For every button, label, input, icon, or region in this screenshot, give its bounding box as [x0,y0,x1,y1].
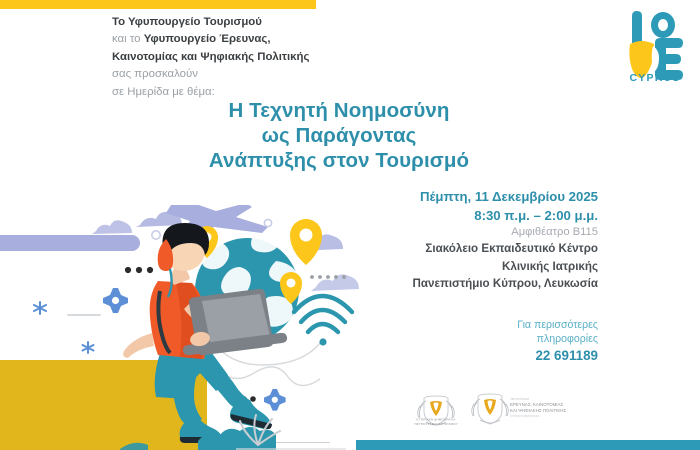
gov1-caption-line2: ΥΦΥΠΟΥΡΓΕΙΟ ΤΟΥΡΙΣΜΟΥ [414,422,458,426]
header-line-2: και το Υφυπουργείο Έρευνας, [112,31,412,48]
gov2-caption-line0: ΥΦΥΠΟΥΡΓΕΙΟ [510,397,529,401]
contact-label-line-2: πληροφορίες [380,332,598,346]
bubble-circle [264,219,271,226]
venue-line-3: Πανεπιστήμιο Κύπρου, Λευκωσία [300,275,598,293]
gov2-caption-line2: ΚΑΙ ΨΗΦΙΑΚΗΣ ΠΟΛΙΤΙΚΗΣ [510,408,566,413]
venue-line-2: Κλινικής Ιατρικής [300,258,598,276]
gov2-caption-line1: ΕΡΕΥΝΑΣ, ΚΑΙΝΟΤΟΜΙΑΣ [510,402,563,407]
event-venue: Σιακόλειο Εκπαιδευτικό Κέντρο Κλινικής Ι… [300,240,598,293]
event-time: 8:30 π.μ. – 2:00 μ.μ. [320,207,598,226]
title-line-3: Ανάπτυξης στον Τουρισμό [150,148,528,173]
event-datetime: Πέμπτη, 11 Δεκεμβρίου 2025 8:30 π.μ. – 2… [320,188,598,225]
cyprus-coat-of-arms-icon [472,394,509,424]
gear-icon [264,389,286,411]
bubble-circle [152,231,160,239]
event-poster: Το Υφυπουργείο Τουρισμού και το Υφυπουργ… [0,0,700,450]
venue-line-1: Σιακόλειο Εκπαιδευτικό Κέντρο [300,240,598,258]
page-title: Η Τεχνητή Νοημοσύνη ως Παράγοντας Ανάπτυ… [150,98,528,173]
sparkle-icon [83,342,94,353]
contact-label-line-1: Για περισσότερες [380,318,598,332]
shoe [230,400,272,429]
title-line-1: Η Τεχνητή Νοημοσύνη [150,98,528,123]
top-yellow-accent-bar [0,0,316,9]
header-line-3: Καινοτομίας και Ψηφιακής Πολιτικής [112,49,412,66]
header-line-2-light: και το [112,33,144,45]
love-cyprus-logo: CYPRUS [620,8,690,84]
header-line-4: σας προσκαλούν [112,66,412,83]
gov2-caption-line3: ΚΥΠΡΙΑΚΗ ΔΗΜΟΚΡΑΤΙΑ [510,415,540,418]
invitation-header-text: Το Υφυπουργείο Τουρισμού και το Υφυπουργ… [112,14,412,101]
contact-label: Για περισσότερες πληροφορίες [380,318,598,347]
header-line-1: Το Υφυπουργείο Τουρισμού [112,14,412,31]
title-line-2: ως Παράγοντας [150,123,528,148]
event-date: Πέμπτη, 11 Δεκεμβρίου 2025 [320,188,598,207]
wifi-icon [294,296,352,346]
sparkle-icon [34,302,46,314]
contact-phone[interactable]: 22 691189 [380,348,598,363]
dot-group [125,267,153,273]
gov-logo-research: ΥΦΥΠΟΥΡΓΕΙΟ ΕΡΕΥΝΑΣ, ΚΑΙΝΟΤΟΜΙΑΣ ΚΑΙ ΨΗΦ… [466,392,578,436]
event-room: Αμφιθέατρο Β115 [320,224,598,240]
bottom-teal-accent-bar [356,440,700,450]
header-line-2-bold: Υφυπουργείο Έρευνας, [144,33,271,45]
gear-icon [103,288,128,313]
love-cyprus-wordmark: CYPRUS [620,72,690,84]
